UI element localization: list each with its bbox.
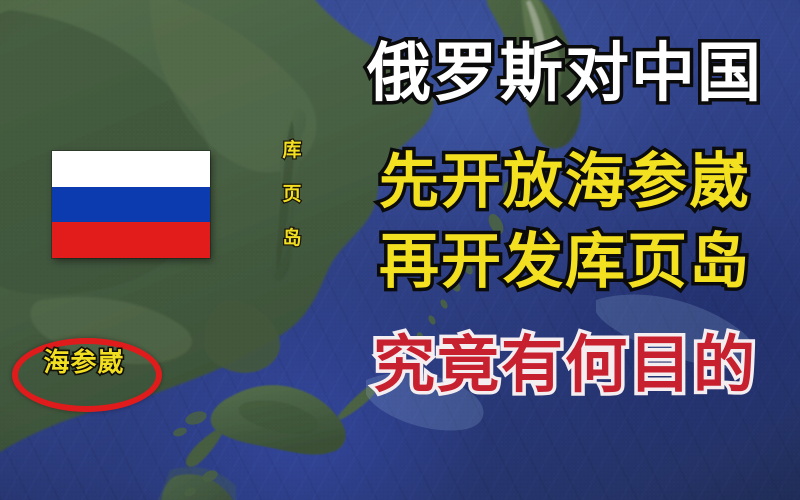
- headline-line-3: 再开发库页岛: [330, 232, 800, 292]
- flag-stripe-blue: [52, 187, 210, 223]
- headline-line-4: 究竟有何目的: [330, 334, 800, 396]
- headline-line-1: 俄罗斯对中国: [330, 42, 800, 106]
- russia-flag-icon: [52, 151, 210, 258]
- sakhalin-char-3: 岛: [281, 216, 303, 260]
- headline-block: 俄罗斯对中国 先开放海参崴 再开发库页岛 究竟有何目的: [330, 0, 800, 500]
- sakhalin-char-1: 库: [281, 128, 303, 172]
- headline-line-2: 先开放海参崴: [330, 152, 800, 212]
- sakhalin-char-2: 页: [281, 172, 303, 216]
- sakhalin-label: 库 页 岛: [281, 128, 303, 260]
- thumbnail-canvas: 海参崴 库 页 岛 俄罗斯对中国 先开放海参崴 再开发库页岛 究竟有何目的: [0, 0, 800, 500]
- vladivostok-label: 海参崴: [30, 350, 138, 376]
- flag-stripe-red: [52, 222, 210, 258]
- flag-stripe-white: [52, 151, 210, 187]
